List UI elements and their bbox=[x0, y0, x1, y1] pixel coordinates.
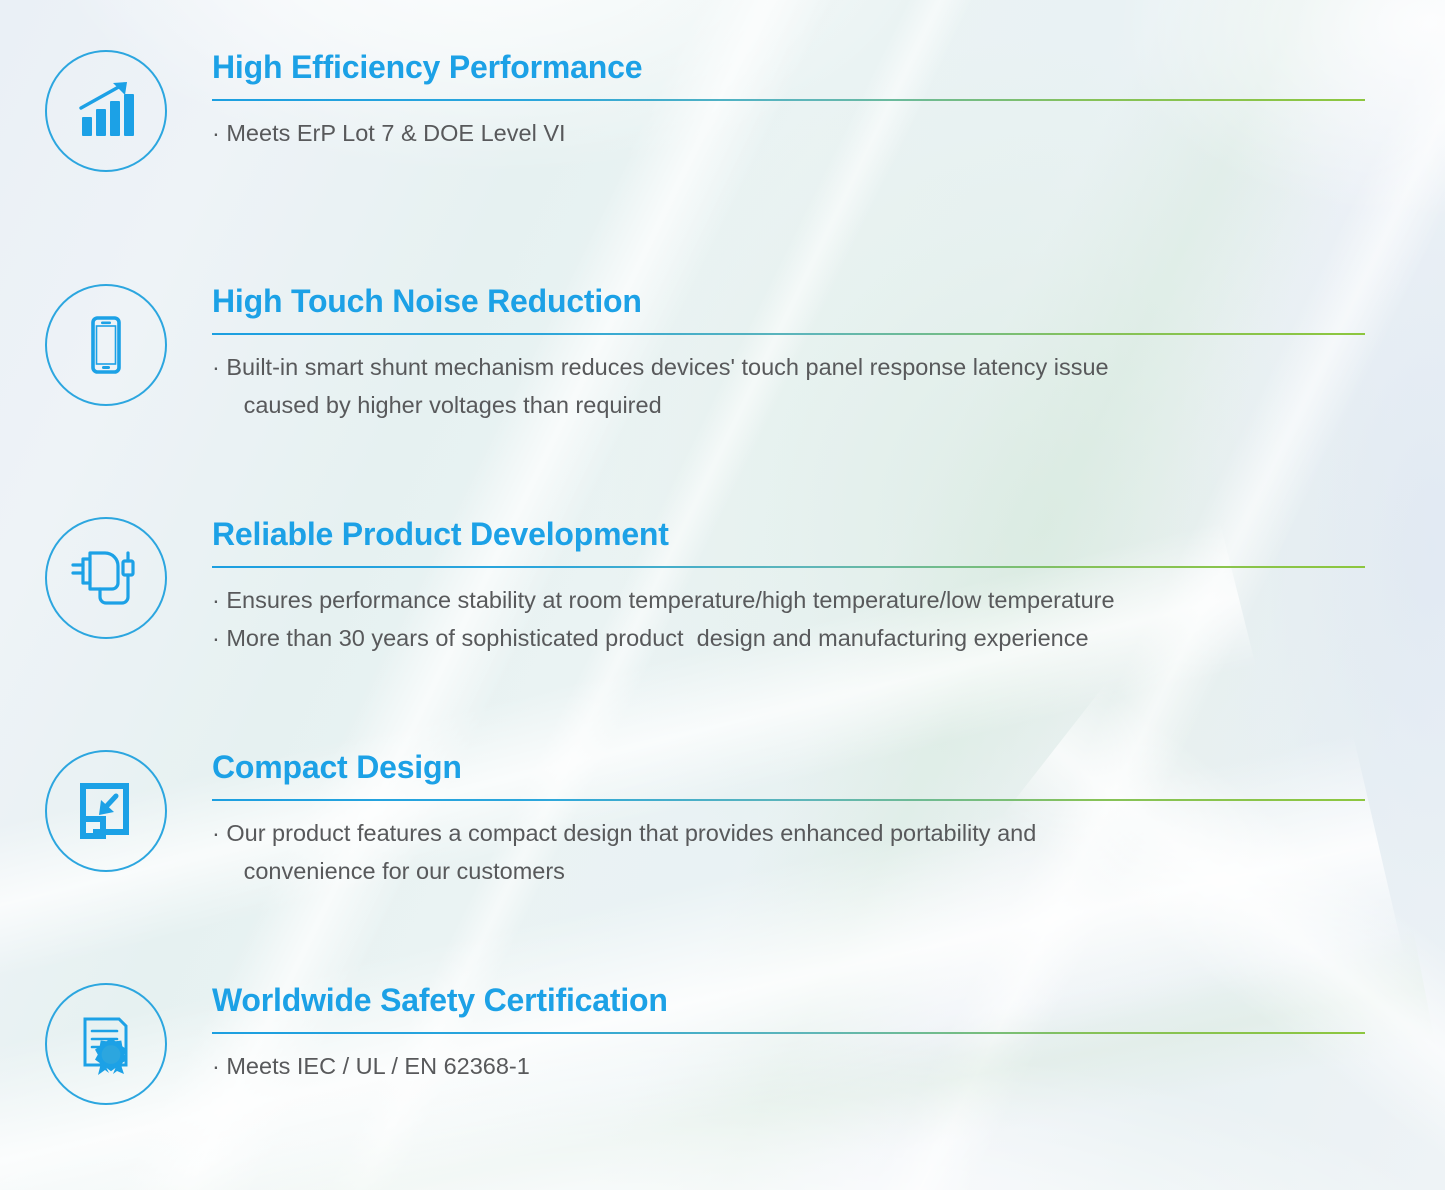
feature-bullet: · More than 30 years of sophisticated pr… bbox=[212, 619, 1365, 657]
feature-divider bbox=[212, 566, 1365, 568]
feature-item-reliable-product-development: Reliable Product Development · Ensures p… bbox=[0, 517, 1445, 657]
feature-icon-cell bbox=[0, 284, 212, 406]
feature-title: High Touch Noise Reduction bbox=[212, 284, 1365, 319]
feature-bullets: · Built-in smart shunt mechanism reduces… bbox=[212, 348, 1365, 424]
feature-icon-cell bbox=[0, 50, 212, 172]
feature-title: Worldwide Safety Certification bbox=[212, 983, 1365, 1018]
feature-text-cell: Reliable Product Development · Ensures p… bbox=[212, 517, 1445, 657]
feature-bullet: · Meets IEC / UL / EN 62368-1 bbox=[212, 1047, 1365, 1085]
feature-icon-cell bbox=[0, 750, 212, 872]
power-adapter-icon bbox=[45, 517, 167, 639]
feature-title: Compact Design bbox=[212, 750, 1365, 785]
feature-item-high-touch-noise-reduction: High Touch Noise Reduction · Built-in sm… bbox=[0, 284, 1445, 424]
feature-text-cell: Worldwide Safety Certification · Meets I… bbox=[212, 983, 1445, 1085]
feature-item-compact-design: Compact Design · Our product features a … bbox=[0, 750, 1445, 890]
feature-icon-cell bbox=[0, 517, 212, 639]
feature-bullets: · Ensures performance stability at room … bbox=[212, 581, 1365, 657]
feature-bullet: · Meets ErP Lot 7 & DOE Level VI bbox=[212, 114, 1365, 152]
smartphone-icon bbox=[45, 284, 167, 406]
feature-item-high-efficiency-performance: High Efficiency Performance · Meets ErP … bbox=[0, 50, 1445, 172]
feature-item-worldwide-safety-certification: Worldwide Safety Certification · Meets I… bbox=[0, 983, 1445, 1105]
certificate-seal-icon bbox=[45, 983, 167, 1105]
feature-divider bbox=[212, 333, 1365, 335]
bar-chart-growth-icon bbox=[45, 50, 167, 172]
feature-divider bbox=[212, 799, 1365, 801]
feature-bullets: · Meets IEC / UL / EN 62368-1 bbox=[212, 1047, 1365, 1085]
feature-divider bbox=[212, 1032, 1365, 1034]
feature-icon-cell bbox=[0, 983, 212, 1105]
feature-bullet: · Our product features a compact design … bbox=[212, 814, 1365, 890]
feature-text-cell: Compact Design · Our product features a … bbox=[212, 750, 1445, 890]
feature-text-cell: High Efficiency Performance · Meets ErP … bbox=[212, 50, 1445, 152]
compact-resize-icon bbox=[45, 750, 167, 872]
feature-bullets: · Meets ErP Lot 7 & DOE Level VI bbox=[212, 114, 1365, 152]
feature-bullet: · Built-in smart shunt mechanism reduces… bbox=[212, 348, 1365, 424]
feature-bullet: · Ensures performance stability at room … bbox=[212, 581, 1365, 619]
feature-list-page: High Efficiency Performance · Meets ErP … bbox=[0, 0, 1445, 1190]
feature-bullets: · Our product features a compact design … bbox=[212, 814, 1365, 890]
feature-title: Reliable Product Development bbox=[212, 517, 1365, 552]
feature-text-cell: High Touch Noise Reduction · Built-in sm… bbox=[212, 284, 1445, 424]
feature-title: High Efficiency Performance bbox=[212, 50, 1365, 85]
feature-divider bbox=[212, 99, 1365, 101]
